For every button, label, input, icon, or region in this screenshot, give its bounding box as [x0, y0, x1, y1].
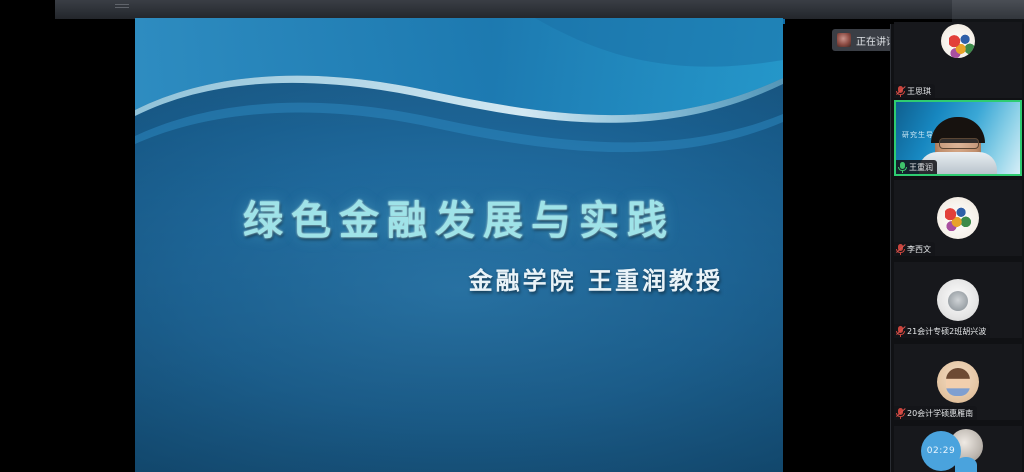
- avatar: [937, 197, 979, 239]
- participant-label: 21会计专硕2班胡兴波: [894, 324, 990, 338]
- participant-tile[interactable]: 20会计学硕惠雁南: [894, 344, 1022, 420]
- participant-tile-active-speaker[interactable]: 研究生导师 (2022) 王重润: [894, 100, 1022, 176]
- window-toolbar-right-section[interactable]: [952, 0, 1024, 19]
- microphone-muted-icon: [896, 244, 905, 255]
- participant-label: 王重润: [896, 160, 937, 174]
- participant-label: 王思琪: [894, 84, 935, 98]
- participant-tile[interactable]: 李西文: [894, 180, 1022, 256]
- window-toolbar[interactable]: [55, 0, 952, 19]
- slide-subtitle: 金融学院 王重润教授: [469, 261, 723, 296]
- timer-avatar-group: 02:29: [915, 427, 1001, 471]
- participant-name: 王重润: [909, 162, 933, 173]
- shared-screen-stage[interactable]: 绿色金融发展与实践 金融学院 王重润教授: [135, 18, 783, 472]
- toolbar-menu-icon[interactable]: [115, 4, 133, 9]
- participant-name: 20会计学硕惠雁南: [907, 408, 973, 419]
- participant-name: 王思琪: [907, 86, 931, 97]
- participant-tile-timer[interactable]: 02:29: [894, 426, 1022, 472]
- avatar: [941, 24, 975, 58]
- microphone-on-icon: [898, 162, 907, 173]
- microphone-muted-icon: [896, 326, 905, 337]
- participant-name: 李西文: [907, 244, 931, 255]
- microphone-muted-icon: [896, 86, 905, 97]
- avatar: [937, 279, 979, 321]
- participant-label: 李西文: [894, 242, 935, 256]
- participant-name: 21会计专硕2班胡兴波: [907, 326, 986, 337]
- participant-label: 20会计学硕惠雁南: [894, 406, 977, 420]
- speaker-thumbnail-icon: [837, 33, 851, 47]
- screen: 绿色金融发展与实践 金融学院 王重润教授 正在讲话: 王重润 王思琪 研究生导师…: [0, 0, 1024, 472]
- participant-tile[interactable]: 王思琪: [894, 22, 1022, 98]
- sidebar-divider: [890, 24, 891, 472]
- participant-tile[interactable]: 21会计专硕2班胡兴波: [894, 262, 1022, 338]
- slide-wave-decoration: [135, 18, 783, 178]
- slide-title: 绿色金融发展与实践: [135, 188, 783, 246]
- timer-secondary-badge: [955, 457, 977, 472]
- microphone-muted-icon: [896, 408, 905, 419]
- avatar: [937, 361, 979, 403]
